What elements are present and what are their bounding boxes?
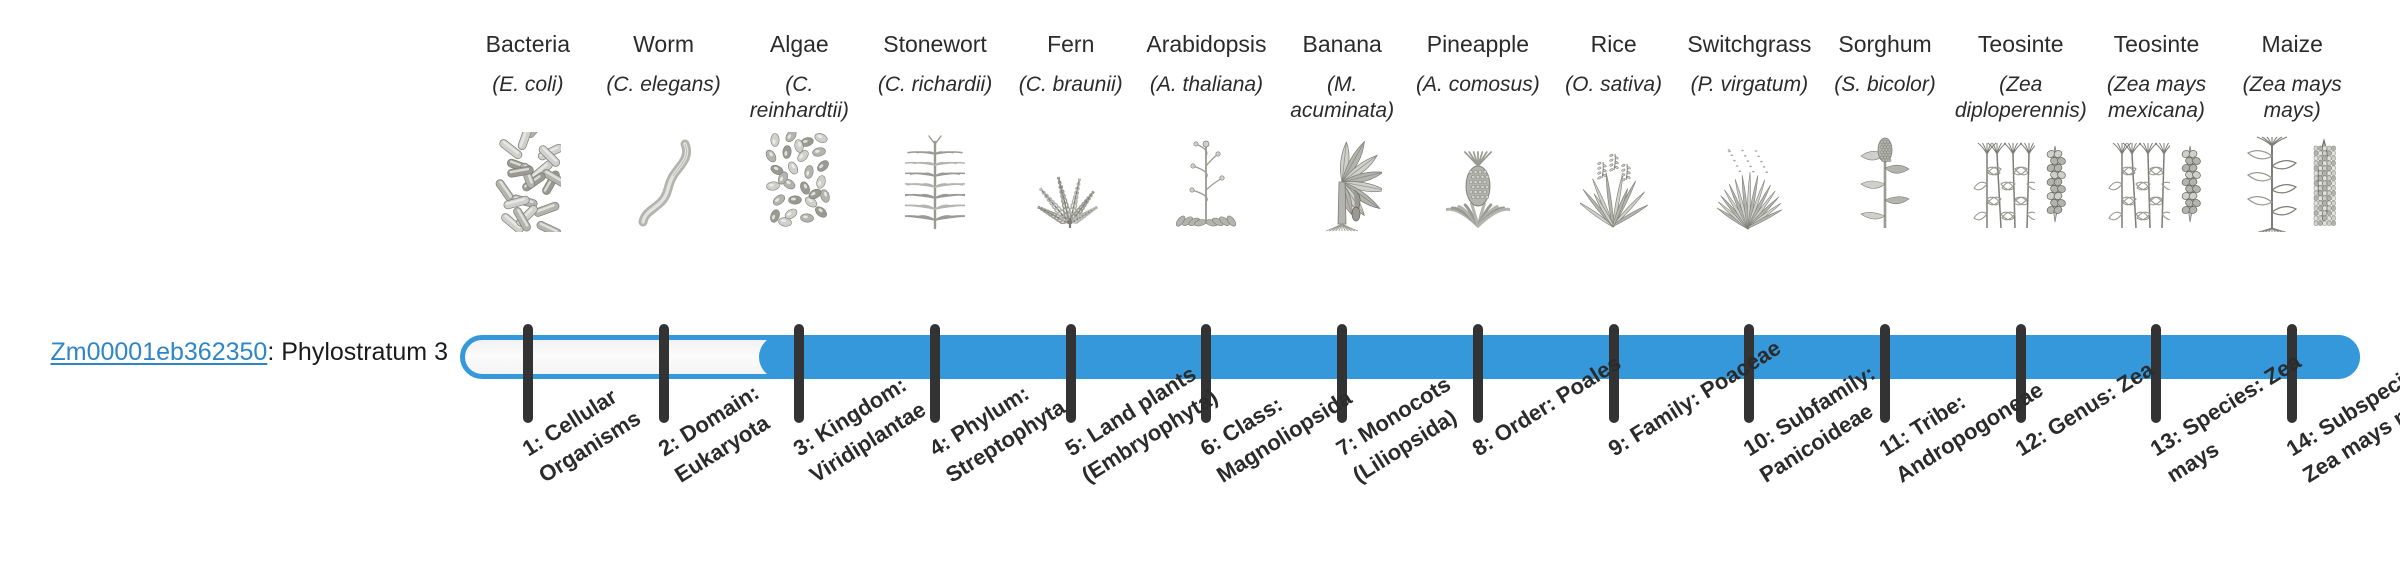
species-scientific-name: (S. bicolor) [1832,72,1938,126]
teosinte-icon [2089,132,2225,232]
pineapple-icon [1410,132,1546,232]
species-scientific-name: (Zea mays mays) [2224,72,2360,126]
algae-icon [731,132,867,232]
species-column: Banana(M. acuminata) [1274,30,1410,320]
species-common-name: Worm [633,30,694,60]
fern-icon [1003,132,1139,232]
arabidopsis-icon [1139,132,1275,232]
phylostratum-number: 2: [653,430,683,462]
species-common-name: Rice [1591,30,1637,60]
switchgrass-icon [1681,132,1817,232]
species-column: Teosinte(Zea mays mexicana) [2089,30,2225,320]
phylostratum-tick[interactable] [523,324,533,423]
phylostratum-number: 12: [2010,423,2050,461]
species-common-name: Teosinte [2114,30,2200,60]
species-common-name: Switchgrass [1687,30,1811,60]
species-scientific-name: (A. thaliana) [1148,72,1265,126]
species-scientific-name: (C. braunii) [1017,72,1125,126]
worm-icon [596,132,732,232]
species-columns: Bacteria(E. coli)Worm(C. elegans)Algae(C… [460,30,2360,320]
species-column: Algae(C. reinhardtii) [731,30,867,320]
phylostratum-number: 9: [1603,430,1633,462]
rice-icon [1546,132,1682,232]
species-common-name: Algae [770,30,829,60]
species-common-name: Arabidopsis [1146,30,1266,60]
species-common-name: Teosinte [1978,30,2064,60]
gene-id-link[interactable]: Zm00001eb362350 [50,338,267,366]
phylostratum-number: 6: [1196,430,1226,462]
species-column: Fern(C. braunii) [1003,30,1139,320]
species-column: Bacteria(E. coli) [460,30,596,320]
species-column: Pineapple(A. comosus) [1410,30,1546,320]
phylostratum-number: 5: [1060,430,1090,462]
species-scientific-name: (A. comosus) [1414,72,1542,126]
species-column: Arabidopsis(A. thaliana) [1139,30,1275,320]
species-common-name: Pineapple [1427,30,1529,60]
phylostratum-number: 3: [789,430,819,462]
sorghum-icon [1817,132,1953,232]
bacteria-icon [460,132,596,232]
species-scientific-name: (P. virgatum) [1689,72,1810,126]
species-common-name: Sorghum [1838,30,1931,60]
phylostratum-number: 4: [925,430,955,462]
maize-icon [2224,132,2360,232]
species-common-name: Bacteria [486,30,570,60]
species-column: Sorghum(S. bicolor) [1817,30,1953,320]
phylostratum-labels: 1: Cellular Organisms2: Domain: Eukaryot… [460,424,2360,580]
phylostratum-figure: Zm00001eb362350: Phylostratum 3 Bacteria… [0,0,2400,580]
teosinte-icon [1953,132,2089,232]
species-scientific-name: (C. richardii) [876,72,994,126]
species-scientific-name: (M. acuminata) [1274,72,1410,126]
species-column: Maize(Zea mays mays) [2224,30,2360,320]
species-column: Stonewort(C. richardii) [867,30,1003,320]
species-column: Worm(C. elegans) [596,30,732,320]
species-column: Teosinte(Zea diploperennis) [1953,30,2089,320]
species-scientific-name: (Zea mays mexicana) [2089,72,2225,126]
species-column: Rice(O. sativa) [1546,30,1682,320]
phylostratum-number: 8: [1468,430,1498,462]
species-column: Switchgrass(P. virgatum) [1681,30,1817,320]
species-common-name: Maize [2262,30,2323,60]
stonewort-icon [867,132,1003,232]
species-scientific-name: (Zea diploperennis) [1953,72,2089,126]
banana-icon [1274,132,1410,232]
phylostratum-number: 7: [1332,430,1362,462]
species-common-name: Fern [1047,30,1094,60]
species-scientific-name: (C. elegans) [604,72,722,126]
species-scientific-name: (E. coli) [490,72,565,126]
gene-phylostratum-label: Zm00001eb362350: Phylostratum 3 [0,337,448,367]
phylostratum-number: 1: [518,430,548,462]
species-common-name: Banana [1303,30,1382,60]
species-common-name: Stonewort [883,30,987,60]
gene-phylostratum-value: Phylostratum 3 [281,338,448,366]
species-scientific-name: (O. sativa) [1563,72,1664,126]
gene-label-separator: : [267,338,281,366]
species-scientific-name: (C. reinhardtii) [731,72,867,126]
